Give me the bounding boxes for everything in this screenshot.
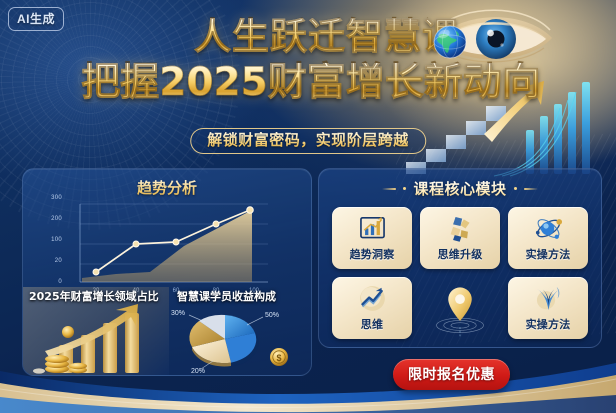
module-card-label: 实操方法	[526, 246, 571, 262]
module-card-practical-method-top[interactable]: 实操方法	[508, 207, 588, 269]
svg-text:30%: 30%	[171, 310, 185, 317]
header-titles: 人生跃迁智慧课 把握2025财富增长新动向	[0, 18, 616, 102]
dash-right-decoration	[524, 188, 538, 190]
dot-right-decoration	[514, 187, 517, 190]
trend-up-icon	[356, 282, 389, 315]
y-tick: 300	[51, 195, 62, 201]
core-modules-panel: 课程核心模块 趋势洞察	[318, 168, 602, 348]
page-title-line2: 把握2025财富增长新动向	[6, 63, 616, 102]
location-pin-icon	[420, 282, 500, 338]
bottom-swoosh-decoration	[0, 349, 616, 413]
core-modules-title-row: 课程核心模块	[319, 178, 601, 199]
module-card-practical-method-bottom[interactable]: 实操方法	[508, 277, 588, 339]
module-card-label: 实操方法	[526, 316, 571, 332]
puzzle-icon	[444, 212, 477, 245]
y-tick: 100	[51, 237, 62, 243]
core-modules-title: 课程核心模块	[413, 178, 506, 199]
module-card-label: 思维升级	[438, 246, 483, 262]
module-card-label: 趋势洞察	[350, 246, 395, 262]
wealth-growth-bar-title: 2025年财富增长领域占比	[29, 291, 165, 304]
subtitle-pill: 解锁财富密码，实现阶层跨越	[190, 128, 426, 154]
dot-left-decoration	[403, 187, 406, 190]
ai-generated-badge: AI生成	[8, 7, 64, 31]
line-chart: 300 200 100 20 0	[64, 202, 270, 286]
bar-chart-icon	[356, 212, 389, 245]
line-chart-y-axis: 300 200 100 20 0	[42, 198, 64, 282]
trend-analysis-panel: 趋势分析 300 200 100 20 0	[22, 168, 312, 376]
line-chart-plot	[64, 202, 270, 286]
y-tick: 20	[55, 258, 62, 264]
poster-root: AI生成	[0, 0, 616, 413]
atom-icon	[532, 212, 565, 245]
page-title-line1: 人生跃迁智慧课	[38, 18, 616, 55]
cta-enroll-button[interactable]: 限时报名优惠	[393, 359, 510, 390]
cta-label: 限时报名优惠	[408, 367, 495, 383]
diamond-icon	[532, 282, 565, 315]
module-card-trend-insight[interactable]: 趋势洞察	[332, 207, 412, 269]
module-card-mindset-upgrade[interactable]: 思维升级	[420, 207, 500, 269]
dash-left-decoration	[382, 188, 396, 190]
module-card-location-pin	[420, 277, 500, 339]
subtitle-text: 解锁财富密码，实现阶层跨越	[207, 132, 409, 149]
module-card-mindset[interactable]: 思维	[332, 277, 412, 339]
y-tick: 200	[51, 216, 62, 222]
module-card-label: 思维	[361, 316, 383, 332]
revenue-composition-title: 智慧课学员收益构成	[177, 291, 307, 304]
core-modules-grid: 趋势洞察 思维升级	[332, 207, 588, 339]
trend-analysis-title: 趋势分析	[23, 177, 311, 198]
svg-text:50%: 50%	[265, 312, 279, 319]
y-tick: 0	[58, 279, 62, 285]
globe-icon	[432, 24, 468, 60]
